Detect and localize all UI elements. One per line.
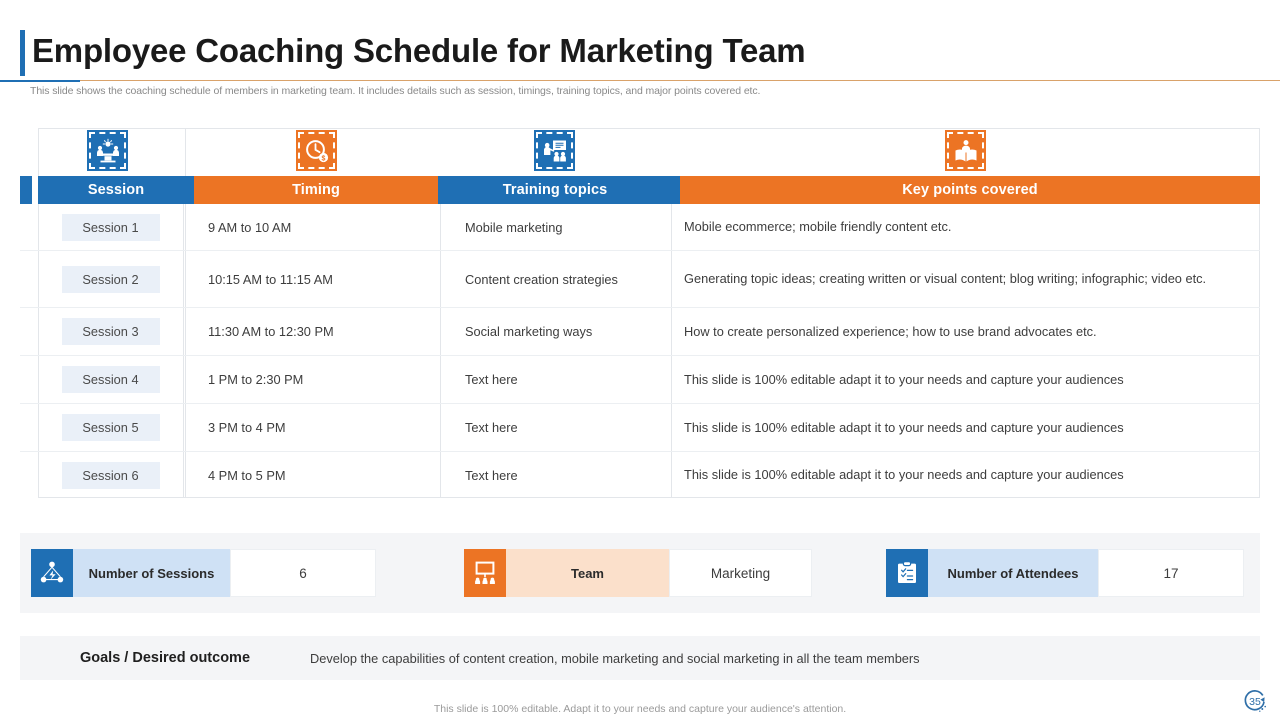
stat-label: Number of Sessions bbox=[73, 549, 230, 597]
page-title: Employee Coaching Schedule for Marketing… bbox=[32, 32, 1232, 70]
clipboard-checklist-icon bbox=[886, 549, 928, 597]
page-subtitle: This slide shows the coaching schedule o… bbox=[30, 85, 1130, 97]
page-number-badge: 35 bbox=[1240, 687, 1270, 717]
goals-text: Develop the capabilities of content crea… bbox=[310, 651, 920, 666]
goals-row: Goals / Desired outcome Develop the capa… bbox=[20, 636, 1260, 680]
stat-value[interactable]: 17 bbox=[1098, 549, 1244, 597]
cell-keypoints: Mobile ecommerce; mobile friendly conten… bbox=[672, 204, 1260, 250]
cell-keypoints: This slide is 100% editable adapt it to … bbox=[672, 404, 1260, 451]
slide-root: Employee Coaching Schedule for Marketing… bbox=[0, 0, 1280, 720]
cell-topic: Social marketing ways bbox=[441, 308, 671, 355]
stat-number-of-sessions[interactable]: Number of Sessions 6 bbox=[31, 549, 376, 597]
cell-timing: 3 PM to 4 PM bbox=[184, 404, 440, 451]
stat-team[interactable]: Team Marketing bbox=[464, 549, 812, 597]
cell-timing: 11:30 AM to 12:30 PM bbox=[184, 308, 440, 355]
cell-topic: Mobile marketing bbox=[441, 204, 671, 250]
cell-topic: Text here bbox=[441, 452, 671, 498]
stat-value[interactable]: 6 bbox=[230, 549, 376, 597]
column-header-session[interactable]: Session bbox=[38, 176, 194, 204]
presentation-board-icon bbox=[464, 549, 506, 597]
stat-label: Number of Attendees bbox=[928, 549, 1098, 597]
header-rule-orange bbox=[80, 80, 1280, 81]
cell-keypoints: This slide is 100% editable adapt it to … bbox=[672, 356, 1260, 403]
column-header-training-topics[interactable]: Training topics bbox=[438, 176, 672, 204]
footer-note: This slide is 100% editable. Adapt it to… bbox=[0, 703, 1280, 715]
cell-session: Session 3 bbox=[38, 308, 183, 355]
table-row[interactable]: Session 4 1 PM to 2:30 PM Text here This… bbox=[20, 356, 1260, 404]
network-team-icon bbox=[31, 549, 73, 597]
cell-topic: Text here bbox=[441, 404, 671, 451]
table-row[interactable]: Session 3 11:30 AM to 12:30 PM Social ma… bbox=[20, 308, 1260, 356]
header-stub-left bbox=[20, 176, 32, 204]
cell-session: Session 1 bbox=[38, 204, 183, 250]
table-body: Session 1 9 AM to 10 AM Mobile marketing… bbox=[20, 204, 1260, 498]
cell-session: Session 2 bbox=[38, 251, 183, 307]
table-row[interactable]: Session 6 4 PM to 5 PM Text here This sl… bbox=[20, 452, 1260, 498]
table-row[interactable]: Session 5 3 PM to 4 PM Text here This sl… bbox=[20, 404, 1260, 452]
cell-timing: 9 AM to 10 AM bbox=[184, 204, 440, 250]
cell-keypoints: This slide is 100% editable adapt it to … bbox=[672, 452, 1260, 498]
stat-number-of-attendees[interactable]: Number of Attendees 17 bbox=[886, 549, 1244, 597]
cell-keypoints: How to create personalized experience; h… bbox=[672, 308, 1260, 355]
cell-topic: Text here bbox=[441, 356, 671, 403]
table-row[interactable]: Session 2 10:15 AM to 11:15 AM Content c… bbox=[20, 251, 1260, 308]
page-number: 35 bbox=[1240, 687, 1270, 717]
header-rule-blue bbox=[0, 80, 80, 82]
table-header-bar: Session Timing Training topics Key point… bbox=[20, 176, 1260, 204]
cell-session: Session 5 bbox=[38, 404, 183, 451]
cell-timing: 4 PM to 5 PM bbox=[184, 452, 440, 498]
cell-session: Session 4 bbox=[38, 356, 183, 403]
column-header-key-points[interactable]: Key points covered bbox=[680, 176, 1260, 204]
table-row[interactable]: Session 1 9 AM to 10 AM Mobile marketing… bbox=[20, 204, 1260, 251]
cell-topic: Content creation strategies bbox=[441, 251, 671, 307]
title-accent-bar bbox=[20, 30, 25, 76]
column-header-timing[interactable]: Timing bbox=[194, 176, 438, 204]
cell-timing: 1 PM to 2:30 PM bbox=[184, 356, 440, 403]
cell-keypoints: Generating topic ideas; creating written… bbox=[672, 251, 1260, 307]
stat-value[interactable]: Marketing bbox=[669, 549, 812, 597]
goals-label: Goals / Desired outcome bbox=[20, 650, 310, 666]
cell-timing: 10:15 AM to 11:15 AM bbox=[184, 251, 440, 307]
cell-session: Session 6 bbox=[38, 452, 183, 498]
stat-label: Team bbox=[506, 549, 669, 597]
